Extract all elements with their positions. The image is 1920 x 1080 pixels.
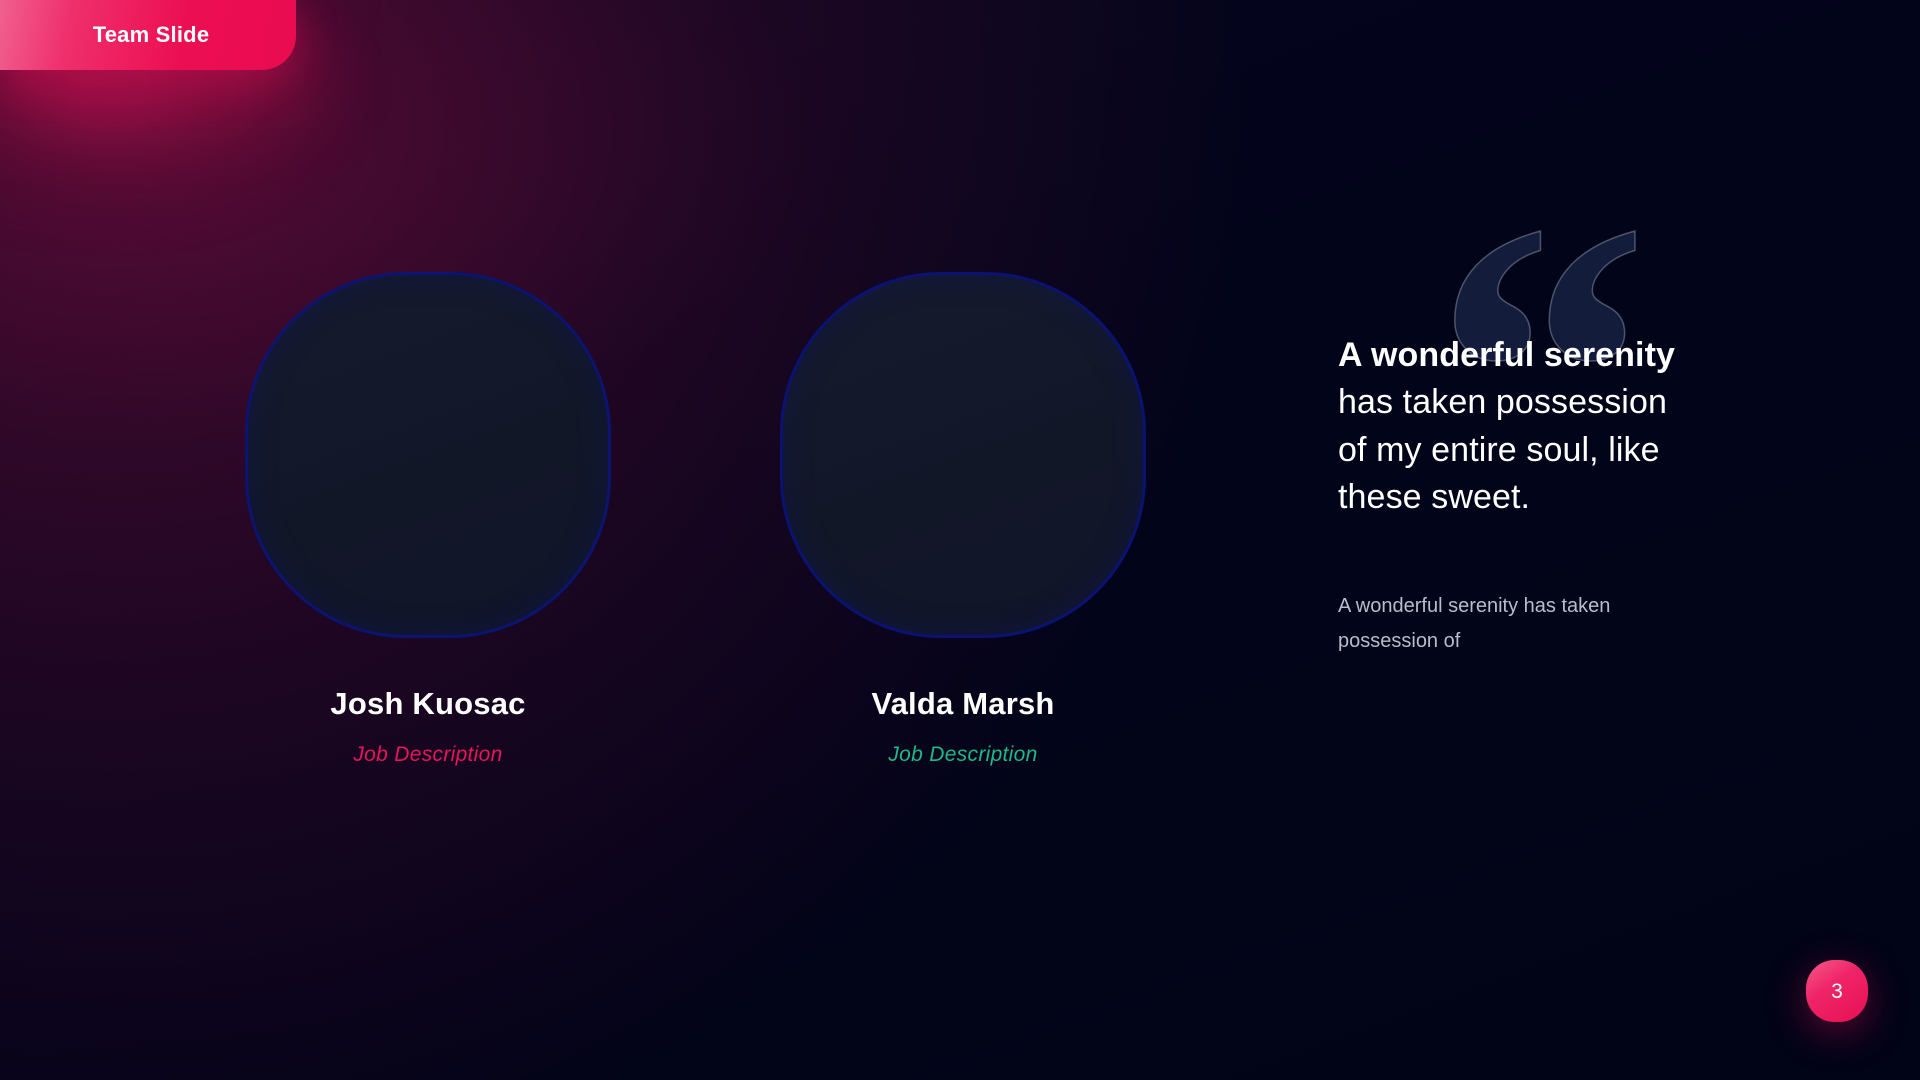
quote-block: “ A wonderful serenity has taken possess… [1338,210,1738,659]
page-number-label: 3 [1831,981,1843,1002]
team-member-card[interactable]: Josh Kuosac Job Description [245,272,611,766]
quote-body-text: A wonderful serenity has taken possessio… [1338,589,1638,659]
avatar-placeholder[interactable] [245,272,611,638]
slide-canvas: Team Slide Josh Kuosac Job Description V… [0,0,1920,1080]
member-name: Valda Marsh [780,687,1146,721]
quote-headline: A wonderful serenity has taken possessio… [1338,210,1690,521]
team-member-card[interactable]: Valda Marsh Job Description [780,272,1146,766]
avatar-placeholder[interactable] [780,272,1146,638]
member-role: Job Description [245,743,611,766]
page-number-badge[interactable]: 3 [1806,960,1868,1022]
title-badge-label: Team Slide [87,24,210,46]
member-role: Job Description [780,743,1146,766]
quote-headline-bold: A wonderful serenity [1338,336,1675,374]
title-badge[interactable]: Team Slide [0,0,296,70]
quote-headline-rest: has taken possession of my entire soul, … [1338,383,1667,516]
member-name: Josh Kuosac [245,687,611,721]
